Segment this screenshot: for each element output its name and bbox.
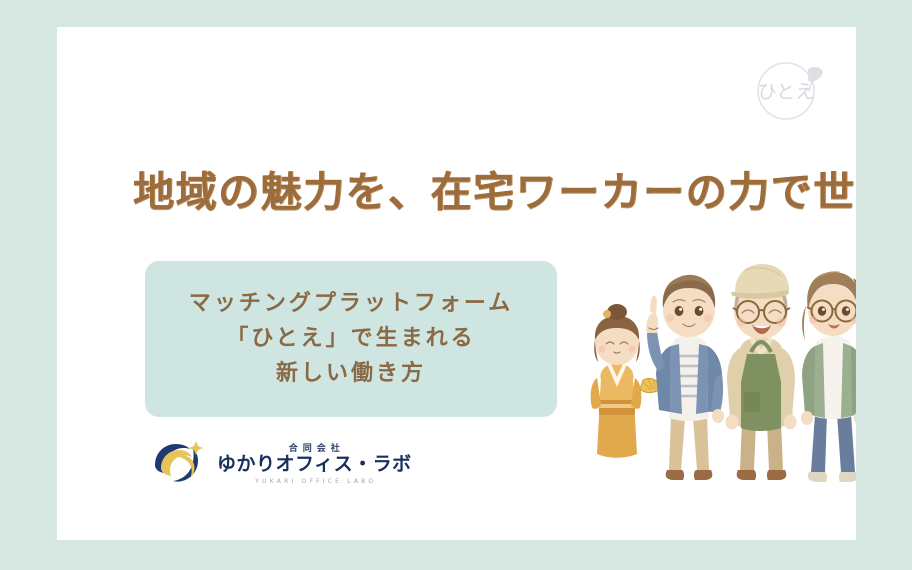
subtitle-line-2: 「ひとえ」で生まれる (226, 324, 475, 354)
four-people-illustration: .sk { fill:#f5ddc4; } .skd { fill:#eccfa… (575, 232, 856, 504)
hitoe-brand-text: ひとえ (758, 81, 814, 103)
company-logo: 合同会社 ゆかりオフィス・ラボ YUKARI OFFICE LABO (147, 435, 412, 491)
page-title: 地域の魅力を、在宅ワーカーの力で世界へ (133, 167, 833, 218)
subtitle-panel: マッチングプラットフォーム 「ひとえ」で生まれる 新しい働き方 (145, 261, 557, 417)
elderly-man-figure (726, 264, 797, 480)
subtitle-line-1: マッチングプラットフォーム (189, 289, 513, 319)
hitoe-brand-logo: ひとえ (742, 49, 834, 133)
company-logo-text: 合同会社 ゆかりオフィス・ラボ YUKARI OFFICE LABO (217, 441, 412, 485)
company-name-label: ゆかりオフィス・ラボ (217, 455, 412, 475)
company-logo-mark-icon (147, 435, 209, 491)
woman-with-glasses-figure (801, 271, 856, 482)
young-man-figure (646, 275, 724, 480)
slide-card: ひとえ 地域の魅力を、在宅ワーカーの力で世界へ マッチングプラットフォーム 「ひ… (57, 27, 856, 540)
subtitle-line-3: 新しい働き方 (276, 359, 426, 389)
company-romaji-label: YUKARI OFFICE LABO (252, 478, 376, 485)
